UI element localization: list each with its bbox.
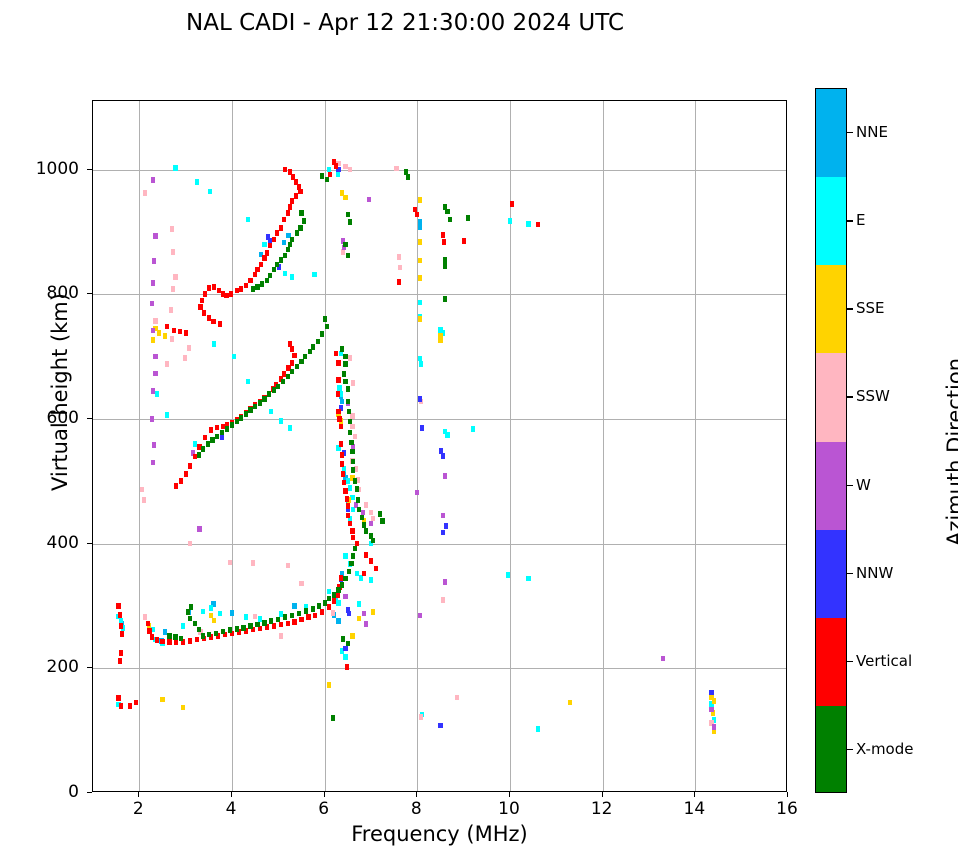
scatter-mark — [235, 419, 239, 425]
scatter-mark — [443, 296, 447, 302]
scatter-mark — [201, 446, 205, 452]
scatter-mark — [268, 243, 272, 249]
colorbar-label-sse: SSE — [856, 299, 885, 317]
scatter-mark — [351, 535, 355, 541]
scatter-mark — [295, 230, 299, 236]
scatter-mark — [510, 201, 514, 207]
scatter-mark — [290, 369, 294, 375]
y-axis-tick — [87, 169, 92, 170]
scatter-mark — [152, 258, 156, 264]
y-axis-tick — [87, 543, 92, 544]
scatter-mark — [286, 247, 290, 253]
scatter-mark — [348, 430, 352, 436]
scatter-mark — [336, 391, 340, 397]
scatter-mark — [445, 209, 449, 215]
scatter-mark — [188, 616, 192, 622]
scatter-mark — [187, 345, 191, 351]
scatter-mark — [418, 275, 422, 281]
scatter-mark — [351, 459, 355, 465]
scatter-mark — [311, 606, 315, 612]
scatter-mark — [272, 237, 276, 243]
colorbar-tick — [847, 661, 853, 662]
scatter-mark — [346, 212, 350, 218]
scatter-mark — [142, 497, 146, 503]
scatter-mark — [709, 690, 713, 696]
scatter-mark — [362, 571, 366, 577]
colorbar-segment-e — [816, 177, 846, 265]
scatter-mark — [201, 633, 205, 639]
scatter-mark — [325, 324, 329, 330]
scatter-mark — [360, 515, 364, 521]
scatter-mark — [150, 301, 154, 307]
scatter-mark — [443, 579, 447, 585]
scatter-mark — [140, 487, 144, 493]
scatter-mark — [343, 488, 347, 494]
y-axis-tick-label: 1000 — [17, 159, 79, 179]
scatter-mark — [380, 518, 384, 524]
scatter-mark — [304, 608, 308, 614]
scatter-mark — [367, 197, 371, 203]
scatter-mark — [241, 625, 245, 631]
scatter-mark — [246, 217, 250, 223]
scatter-mark — [336, 409, 340, 415]
scatter-mark — [153, 371, 157, 377]
scatter-mark — [207, 632, 211, 638]
scatter-mark — [348, 485, 352, 491]
scatter-mark — [244, 283, 248, 289]
scatter-mark — [232, 354, 236, 360]
scatter-mark — [343, 553, 347, 559]
scatter-mark — [343, 646, 347, 652]
scatter-mark — [323, 316, 327, 322]
scatter-mark — [350, 449, 354, 455]
scatter-mark — [272, 387, 276, 393]
scatter-mark — [225, 426, 229, 432]
scatter-mark — [207, 315, 211, 321]
scatter-mark — [282, 240, 286, 246]
scatter-mark — [195, 637, 199, 643]
scatter-mark — [346, 386, 350, 392]
scatter-mark — [292, 619, 296, 625]
scatter-mark — [441, 453, 445, 459]
scatter-mark — [155, 637, 159, 643]
scatter-mark — [143, 614, 147, 620]
x-axis-label: Frequency (MHz) — [92, 822, 787, 846]
scatter-mark — [313, 613, 317, 619]
scatter-mark — [394, 166, 398, 172]
scatter-mark — [364, 552, 368, 558]
scatter-mark — [712, 724, 716, 730]
scatter-mark — [221, 629, 225, 635]
scatter-mark — [119, 650, 123, 656]
scatter-mark — [336, 360, 340, 366]
scatter-mark — [438, 333, 442, 339]
colorbar-label-ssw: SSW — [856, 387, 890, 405]
scatter-mark — [345, 664, 349, 670]
scatter-mark — [221, 424, 225, 430]
scatter-mark — [262, 242, 266, 248]
scatter-mark — [341, 471, 345, 477]
scatter-mark — [279, 622, 283, 628]
scatter-mark — [272, 267, 276, 273]
scatter-mark — [302, 218, 306, 224]
scatter-mark — [251, 286, 255, 292]
scatter-mark — [297, 611, 301, 617]
colorbar-segment-nne — [816, 89, 846, 177]
scatter-mark — [334, 163, 338, 169]
scatter-mark — [248, 623, 252, 629]
scatter-mark — [282, 217, 286, 223]
scatter-mark — [220, 430, 224, 436]
scatter-mark — [215, 434, 219, 440]
scatter-mark — [146, 621, 150, 627]
scatter-mark — [181, 705, 185, 711]
scatter-mark — [167, 639, 171, 645]
scatter-mark — [163, 629, 167, 635]
scatter-mark — [320, 609, 324, 615]
scatter-mark — [188, 541, 192, 547]
y-axis-label: Virtual height (km) — [48, 242, 72, 542]
scatter-mark — [418, 225, 422, 231]
scatter-mark — [369, 558, 373, 564]
scatter-mark — [441, 597, 445, 603]
scatter-mark — [220, 435, 224, 441]
scatter-mark — [160, 697, 164, 703]
scatter-mark — [173, 165, 177, 171]
scatter-mark — [455, 695, 459, 701]
scatter-mark — [406, 174, 410, 180]
scatter-mark — [207, 285, 211, 291]
scatter-mark — [178, 329, 182, 335]
scatter-mark — [188, 463, 192, 469]
scatter-mark — [201, 609, 205, 615]
colorbar-label-e: E — [856, 211, 865, 229]
scatter-mark — [188, 638, 192, 644]
x-axis-tick-label: 12 — [591, 799, 613, 819]
scatter-mark — [712, 698, 716, 704]
scatter-mark — [448, 217, 452, 223]
scatter-mark — [299, 617, 303, 623]
scatter-mark — [235, 626, 239, 632]
scatter-mark — [193, 441, 197, 447]
scatter-mark — [197, 452, 201, 458]
scatter-mark — [153, 233, 157, 239]
scatter-mark — [179, 636, 183, 642]
scatter-mark — [337, 385, 341, 391]
scatter-mark — [398, 265, 402, 271]
scatter-mark — [378, 511, 382, 517]
scatter-mark — [172, 328, 176, 334]
scatter-mark — [346, 253, 350, 259]
scatter-mark — [346, 513, 350, 519]
scatter-mark — [339, 575, 343, 581]
scatter-mark — [288, 204, 292, 210]
scatter-mark — [170, 336, 174, 342]
scatter-mark — [418, 239, 422, 245]
scatter-mark — [362, 611, 366, 617]
scatter-mark — [536, 222, 540, 228]
scatter-mark — [371, 609, 375, 615]
scatter-mark — [134, 700, 138, 706]
scatter-mark — [312, 272, 316, 278]
scatter-mark — [118, 658, 122, 664]
scatter-mark — [323, 600, 327, 606]
scatter-mark — [228, 560, 232, 566]
scatter-mark — [357, 601, 361, 607]
scatter-mark — [349, 561, 353, 567]
scatter-mark — [357, 616, 361, 622]
colorbar-segment-vertical — [816, 618, 846, 706]
y-axis-tick — [87, 293, 92, 294]
scatter-mark — [151, 627, 155, 633]
scatter-mark — [327, 604, 331, 610]
scatter-mark — [174, 483, 178, 489]
scatter-mark — [418, 258, 422, 264]
scatter-mark — [346, 503, 350, 509]
scatter-mark — [332, 592, 336, 598]
scatter-mark — [346, 641, 350, 647]
scatter-mark — [269, 618, 273, 624]
colorbar-segment-nnw — [816, 530, 846, 618]
scatter-mark — [298, 189, 302, 195]
scatter-mark — [186, 609, 190, 615]
colorbar — [815, 88, 847, 793]
scatter-mark — [336, 377, 340, 383]
scatter-mark — [272, 623, 276, 629]
scatter-mark — [351, 553, 355, 559]
colorbar-label-nne: NNE — [856, 123, 888, 141]
scatter-mark — [336, 600, 340, 606]
x-axis-tick-label: 10 — [498, 799, 520, 819]
colorbar-tick — [847, 749, 853, 750]
scatter-mark — [415, 490, 419, 496]
scatter-mark — [369, 577, 373, 583]
scatter-mark — [116, 695, 120, 701]
scatter-mark — [343, 164, 347, 170]
scatter-mark — [151, 388, 155, 394]
scatter-mark — [143, 190, 147, 196]
scatter-mark — [526, 576, 530, 582]
scatter-mark — [441, 232, 445, 238]
scatter-mark — [155, 391, 159, 397]
scatter-mark — [253, 614, 257, 620]
scatter-mark — [193, 621, 197, 627]
scatter-mark — [350, 633, 354, 639]
scatter-mark — [165, 361, 169, 367]
scatter-mark — [337, 416, 341, 422]
scatter-mark — [265, 278, 269, 284]
scatter-mark — [320, 173, 324, 179]
scatter-mark — [336, 618, 340, 624]
scatter-mark — [198, 304, 202, 310]
scatter-mark — [283, 167, 287, 173]
scatter-mark — [197, 627, 201, 633]
colorbar-tick — [847, 308, 853, 309]
scatter-mark — [209, 605, 213, 611]
scatter-mark — [418, 197, 422, 203]
scatter-mark — [346, 607, 350, 613]
scatter-mark — [181, 623, 185, 629]
scatter-mark — [342, 371, 346, 377]
scatter-mark — [339, 424, 343, 430]
scatter-mark — [371, 538, 375, 544]
scatter-mark — [317, 603, 321, 609]
scatter-mark — [230, 610, 234, 616]
colorbar-segment-ssw — [816, 353, 846, 441]
scatter-mark — [255, 622, 259, 628]
scatter-mark — [211, 319, 215, 325]
colorbar-tick — [847, 132, 853, 133]
scatter-mark — [356, 497, 360, 503]
scatter-mark — [299, 210, 303, 216]
scatter-mark — [279, 418, 283, 424]
scatter-mark — [128, 703, 132, 709]
scatter-mark — [466, 215, 470, 221]
scatter-mark — [350, 528, 354, 534]
scatter-mark — [340, 461, 344, 467]
scatter-mark — [364, 528, 368, 534]
scatter-mark — [331, 610, 335, 616]
x-axis-tick-label: 8 — [411, 799, 422, 819]
scatter-mark — [279, 633, 283, 639]
scatter-mark — [262, 396, 266, 402]
scatter-mark — [288, 425, 292, 431]
scatter-mark — [374, 566, 378, 572]
y-axis-tick-label: 200 — [17, 657, 79, 677]
scatter-mark — [342, 480, 346, 486]
scatter-mark — [346, 399, 350, 405]
scatter-mark — [441, 513, 445, 519]
scatter-mark — [327, 682, 331, 688]
scatter-mark — [340, 582, 344, 588]
scatter-mark — [415, 212, 419, 218]
scatter-mark — [397, 279, 401, 285]
scatter-mark — [308, 349, 312, 355]
scatter-mark — [348, 419, 352, 425]
x-axis-tick — [231, 792, 232, 797]
y-axis-tick-label: 0 — [17, 782, 79, 802]
scatter-mark — [217, 288, 221, 294]
colorbar-label-vertical: Vertical — [856, 652, 912, 670]
scatter-mark — [419, 714, 423, 720]
scatter-mark — [153, 318, 157, 324]
scatter-mark — [253, 272, 257, 278]
scatter-mark — [212, 284, 216, 290]
scatter-mark — [290, 274, 294, 280]
scatter-mark — [151, 460, 155, 466]
x-axis-tick-label: 4 — [226, 799, 237, 819]
scatter-mark — [171, 249, 175, 255]
scatter-mark — [364, 502, 368, 508]
scatter-mark — [348, 219, 352, 225]
scatter-mark — [347, 569, 351, 575]
scatter-mark — [343, 354, 347, 360]
scatter-mark — [248, 278, 252, 284]
x-axis-tick — [509, 792, 510, 797]
scatter-mark — [202, 310, 206, 316]
scatter-mark — [276, 384, 280, 390]
scatter-mark — [339, 441, 343, 447]
scatter-mark — [709, 707, 713, 713]
x-axis-tick — [138, 792, 139, 797]
scatter-mark — [218, 611, 222, 617]
colorbar-tick — [847, 573, 853, 574]
scatter-mark — [260, 281, 264, 287]
scatter-mark — [397, 254, 401, 260]
scatter-mark — [197, 526, 201, 532]
scatter-mark — [286, 621, 290, 627]
scatter-mark — [203, 291, 207, 297]
scatter-mark — [195, 179, 199, 185]
scatter-mark — [218, 321, 222, 327]
scatter-mark — [355, 486, 359, 492]
scatter-mark — [332, 598, 336, 604]
scatter-mark — [244, 614, 248, 620]
scatter-mark — [418, 396, 422, 402]
plot-area — [92, 100, 787, 792]
scatter-mark — [262, 620, 266, 626]
scatter-mark — [147, 628, 151, 634]
scatter-mark — [568, 700, 572, 706]
scatter-mark — [173, 634, 177, 640]
x-axis-tick-label: 2 — [133, 799, 144, 819]
ionogram-figure: NAL CADI - Apr 12 21:30:00 2024 UTC 2468… — [0, 0, 958, 857]
scatter-mark — [258, 400, 262, 406]
scatter-mark — [316, 339, 320, 345]
scatter-mark — [165, 412, 169, 418]
scatter-mark — [462, 238, 466, 244]
scatter-mark — [369, 521, 373, 527]
scatter-mark — [327, 589, 331, 595]
colorbar-title: Azimuth Direction — [943, 292, 958, 612]
scatter-mark — [119, 623, 123, 629]
scatter-mark — [419, 361, 423, 367]
x-axis-tick — [694, 792, 695, 797]
scatter-mark — [230, 422, 234, 428]
scatter-mark — [269, 409, 273, 415]
colorbar-tick — [847, 220, 853, 221]
scatter-mark — [163, 333, 167, 339]
scatter-mark — [189, 604, 193, 610]
scatter-mark — [350, 495, 354, 501]
scatter-marks-layer — [93, 101, 786, 791]
scatter-mark — [267, 391, 271, 397]
scatter-mark — [471, 426, 475, 432]
scatter-mark — [364, 621, 368, 627]
scatter-mark — [214, 631, 218, 637]
scatter-mark — [290, 346, 294, 352]
scatter-mark — [536, 726, 540, 732]
scatter-mark — [438, 723, 442, 729]
scatter-mark — [228, 627, 232, 633]
scatter-mark — [169, 307, 173, 313]
scatter-mark — [325, 177, 329, 183]
scatter-mark — [221, 291, 225, 297]
scatter-mark — [349, 440, 353, 446]
scatter-mark — [348, 355, 352, 361]
scatter-mark — [150, 416, 154, 422]
scatter-mark — [508, 218, 512, 224]
scatter-mark — [209, 427, 213, 433]
scatter-mark — [306, 614, 310, 620]
scatter-mark — [248, 407, 252, 413]
scatter-mark — [174, 639, 178, 645]
scatter-mark — [340, 346, 344, 352]
scatter-mark — [350, 424, 354, 430]
x-axis-tick-label: 6 — [318, 799, 329, 819]
scatter-mark — [348, 167, 352, 173]
scatter-mark — [286, 563, 290, 569]
